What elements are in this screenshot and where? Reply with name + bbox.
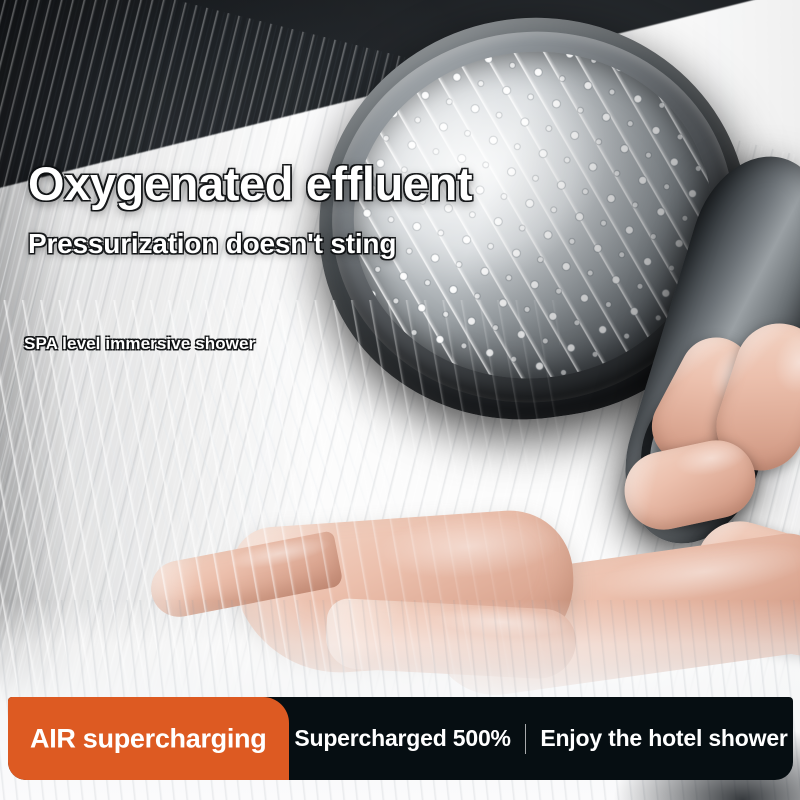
banner-orange-badge: AIR supercharging <box>8 697 289 780</box>
page-title: Oxygenated effluent <box>28 160 588 209</box>
bottom-banner: AIR supercharging Supercharged 500% Enjo… <box>8 697 793 780</box>
banner-divider <box>525 724 527 754</box>
subtitle: Pressurization doesn't sting <box>28 228 588 260</box>
tagline: SPA level immersive shower <box>24 334 255 354</box>
banner-claim-text: Supercharged 500% <box>294 725 510 752</box>
product-ad-canvas: Oxygenated effluent Pressurization doesn… <box>0 0 800 800</box>
marketing-copy-block: Oxygenated effluent Pressurization doesn… <box>28 160 588 260</box>
banner-claims: Supercharged 500% Enjoy the hotel shower <box>289 697 793 780</box>
banner-benefit-text: Enjoy the hotel shower <box>540 725 787 752</box>
banner-badge-label: AIR supercharging <box>30 723 266 754</box>
